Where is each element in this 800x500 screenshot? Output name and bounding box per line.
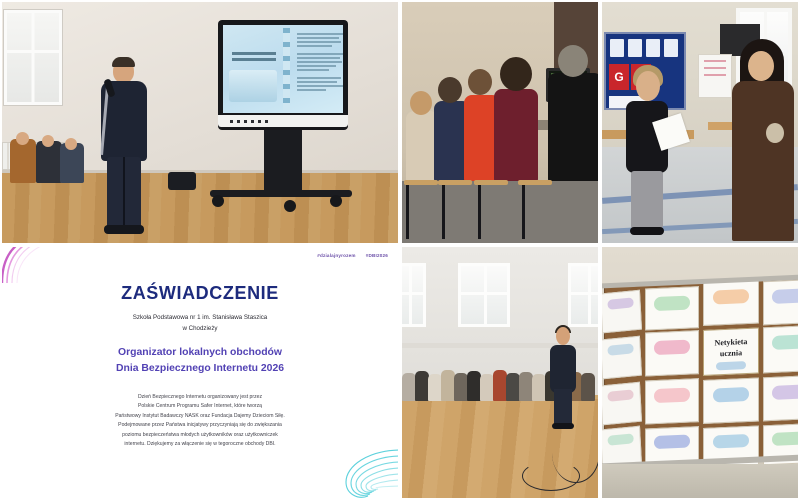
student-shoes [630,227,664,235]
officer-head [556,327,570,345]
student-poster [763,325,800,373]
seated-student [415,371,429,401]
seated-student [441,370,455,401]
panel-hall-audience: School hall with students sitting on the… [400,245,600,500]
certificate-title: ZAŚWIADCZENIE [2,283,398,304]
chair-leg [522,181,525,239]
role-line-1: Organizator lokalnych obchodów [12,345,388,361]
board-poster [628,39,642,57]
corridor-floor [602,464,798,498]
seated-student [506,373,520,401]
body-line: Państwowy Instytut Badawczy NASK oraz Fu… [8,412,392,421]
parquet-floor [2,173,398,243]
student-poster [600,336,642,380]
stand-caster [330,195,342,207]
panel-certificate: #dzialajnyrozem #DBI2026 ZAŚWIADCZENIE S… [0,245,400,500]
lab-student [548,73,600,181]
student-poster [703,378,759,424]
netykieta-title-line-1: Netykieta [715,337,748,347]
student-poster [600,290,642,334]
hashtag-campaign: #dzialajnyrozem [317,253,356,258]
officer-jacket [550,345,576,393]
school-city: w Chodzieży [16,324,384,335]
role-line-2: Dnia Bezpiecznego Internetu 2026 [12,361,388,377]
panel-award-handover: G O Teacher in brown coat handing a cert… [600,0,800,245]
whiteboard-bezel [218,115,348,127]
slide-text-column [297,33,343,91]
chair-seat [518,180,552,185]
chair-leg [442,181,445,239]
officer-trousers [107,157,141,229]
lab-student [494,89,538,181]
board-poster [610,39,624,57]
body-line: Polskie Centrum Programu Safer Internet,… [8,402,392,411]
certificate-document: #dzialajnyrozem #DBI2026 ZAŚWIADCZENIE S… [2,247,398,498]
panel-cork-board: Netykieta ucznia Cork board with student… [600,245,800,500]
hall-window [4,10,62,105]
student-head [558,45,588,77]
student-poster [763,279,800,325]
student-poster [600,382,642,426]
hall-window [400,263,426,327]
student-poster [703,280,759,326]
seated-student [454,373,468,401]
cork-board: Netykieta ucznia [604,277,800,466]
microphone-cable [522,461,580,491]
seated-student [467,371,481,401]
coat-elbow-patch [766,123,784,143]
student-poster [645,286,699,330]
student-trousers [631,171,663,229]
seated-student [10,139,36,183]
slide-spine [283,28,290,110]
seated-student [532,374,546,401]
officer-hair [112,57,135,67]
student-head [468,69,492,95]
certificate-role: Organizator lokalnych obchodów Dnia Bezp… [12,345,388,376]
teacher-coat [732,81,794,241]
stand-caster [284,200,296,212]
student-head [16,132,29,145]
certificate-school: Szkoła Podstawowa nr 1 im. Stanisława St… [16,313,384,335]
student-poster [645,330,699,376]
seated-student [581,373,595,401]
body-line: Podejmowane przez Państwa inicjatywy prz… [8,421,392,430]
hall-window [568,263,600,327]
student-head [65,138,77,150]
board-poster [646,39,660,57]
seated-student [428,374,442,401]
whiteboard-screen [223,25,343,113]
hall-window [458,263,510,327]
seated-student [480,374,494,401]
chair-leg [478,181,481,239]
chair-seat [438,180,472,185]
chair-seat [404,180,438,185]
stand-caster [212,195,224,207]
hashtag-event: #DBI2026 [366,253,388,258]
student-poster [763,375,800,421]
student-head [500,57,532,91]
school-name: Szkoła Podstawowa nr 1 im. Stanisława St… [16,313,384,324]
whiteboard-controls[interactable] [230,120,272,123]
swoosh-decoration-icon [0,245,42,285]
certificate-hashtags: #dzialajnyrozem #DBI2026 [317,253,388,258]
slide-illustration [229,70,277,102]
officer-trousers [554,389,572,425]
police-officer-presenter [550,325,576,429]
teacher-presenting-award [732,33,794,243]
swirl-decoration-icon [328,442,400,500]
board-poster [664,39,678,57]
student-head [42,135,54,147]
seated-student [36,141,62,183]
seated-student [402,373,416,401]
student-head [636,71,660,101]
interactive-whiteboard [218,20,348,130]
student-head [410,91,432,115]
body-line: Dzień Bezpiecznego Internetu organizowan… [8,393,392,402]
officer-shoes [104,225,144,234]
wall-poster [698,54,732,98]
student-head [438,77,462,103]
seated-student [493,370,507,401]
whiteboard-stand-pole [264,130,302,192]
lab-floor [402,181,598,243]
slide-title-lines [232,52,276,55]
student-poster [645,378,699,424]
equipment-bag [168,172,196,190]
panel-assembly-presentation: Police officer with microphone presentin… [0,0,400,245]
chair-seat [474,180,508,185]
seated-student [519,372,533,401]
body-line: poziomu bezpieczeństwa młodych użytkowni… [8,431,392,440]
netykieta-poster: Netykieta ucznia [703,328,759,376]
police-officer-presenter [97,53,149,235]
teacher-head [748,51,774,81]
panel-computer-lab: Row of students seated at computers in t… [400,0,600,245]
chair-leg [406,181,409,239]
netykieta-title-line-2: ucznia [720,348,742,358]
